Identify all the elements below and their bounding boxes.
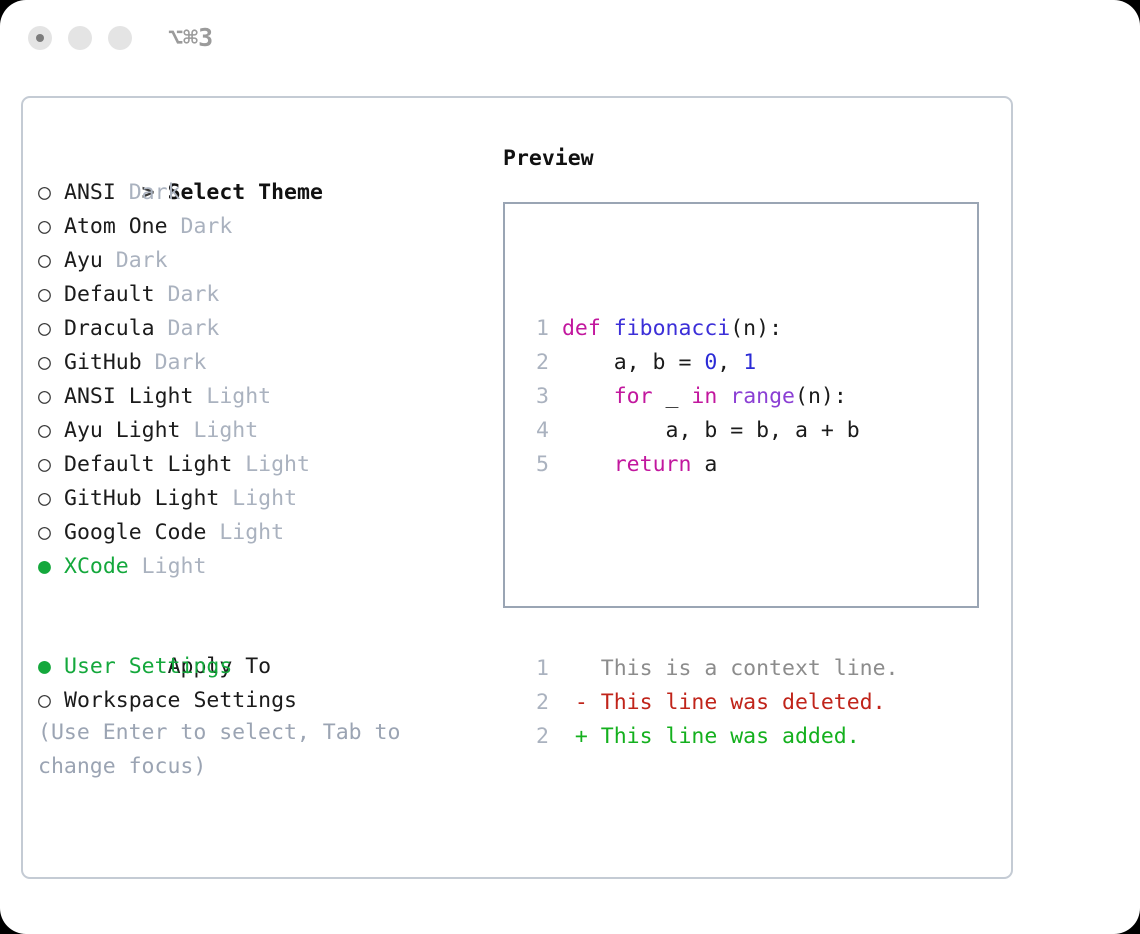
code-token: a, b = b, a + b	[562, 418, 860, 443]
code-lines: 1 def fibonacci(n):2 a, b = 0, 13 for _ …	[523, 312, 899, 482]
title-bar: ⌥⌘3	[0, 0, 1140, 78]
radio-unselected-icon: ○	[38, 210, 64, 244]
radio-unselected-icon: ○	[38, 176, 64, 210]
code-line: 4 a, b = b, a + b	[523, 414, 899, 448]
theme-list-item[interactable]: ○Google Code Light	[38, 516, 488, 550]
theme-list-item[interactable]: ○Dracula Dark	[38, 312, 488, 346]
radio-selected-icon: ●	[38, 550, 64, 584]
diff-line: 2 - This line was deleted.	[523, 686, 899, 720]
code-token: range	[730, 384, 795, 409]
radio-unselected-icon: ○	[38, 346, 64, 380]
code-token	[562, 384, 614, 409]
diff-line: 2 + This line was added.	[523, 720, 899, 754]
code-token: 0	[704, 350, 717, 375]
radio-unselected-icon: ○	[38, 516, 64, 550]
code-line: 5 return a	[523, 448, 899, 482]
keyboard-hint-text: (Use Enter to select, Tab to change focu…	[38, 716, 458, 784]
theme-list-item[interactable]: ○Ayu Dark	[38, 244, 488, 278]
theme-list: ○ANSI Dark○Atom One Dark○Ayu Dark○Defaul…	[38, 176, 488, 584]
code-token	[562, 452, 614, 477]
code-token: a, b =	[562, 350, 704, 375]
radio-unselected-icon: ○	[38, 414, 64, 448]
theme-name: GitHub	[64, 350, 142, 375]
diff-marker: -	[575, 690, 588, 715]
theme-variant-badge: Light	[219, 486, 297, 511]
preview-box: 1 def fibonacci(n):2 a, b = 0, 13 for _ …	[503, 202, 979, 608]
theme-name: Atom One	[64, 214, 168, 239]
theme-name: Default Light	[64, 452, 232, 477]
theme-list-item[interactable]: ●XCode Light	[38, 550, 488, 584]
diff-text: This is a context line.	[588, 656, 899, 681]
diff-text: This line was deleted.	[588, 690, 886, 715]
code-token: return	[614, 452, 692, 477]
theme-variant-badge: Light	[181, 418, 259, 443]
traffic-light-active-icon[interactable]	[28, 26, 52, 50]
code-token: _	[653, 384, 692, 409]
theme-selector-column: > Select Theme ○ANSI Dark○Atom One Dark○…	[38, 142, 488, 718]
code-line: 2 a, b = 0, 1	[523, 346, 899, 380]
theme-variant-badge: Dark	[103, 248, 168, 273]
theme-variant-badge: Dark	[155, 282, 220, 307]
theme-list-item[interactable]: ○Ayu Light Light	[38, 414, 488, 448]
code-token: for	[614, 384, 653, 409]
apply-to-option[interactable]: ○Workspace Settings	[38, 684, 488, 718]
line-number: 3	[523, 380, 549, 414]
theme-name: Dracula	[64, 316, 155, 341]
code-preview: 1 def fibonacci(n):2 a, b = 0, 13 for _ …	[523, 244, 899, 822]
theme-list-item[interactable]: ○ANSI Light Light	[38, 380, 488, 414]
theme-variant-badge: Dark	[155, 316, 220, 341]
code-token	[717, 384, 730, 409]
radio-unselected-icon: ○	[38, 244, 64, 278]
line-number: 1	[523, 652, 549, 686]
preview-title: Preview	[503, 142, 1003, 176]
diff-marker: +	[575, 724, 588, 749]
theme-name: ANSI Light	[64, 384, 193, 409]
theme-name: Default	[64, 282, 155, 307]
traffic-light-third-icon[interactable]	[108, 26, 132, 50]
apply-to-option-label: User Settings	[64, 654, 232, 679]
radio-unselected-icon: ○	[38, 380, 64, 414]
theme-variant-badge: Light	[129, 554, 207, 579]
theme-variant-badge: Dark	[116, 180, 181, 205]
main-panel: > Select Theme ○ANSI Dark○Atom One Dark○…	[21, 96, 1013, 879]
theme-name: ANSI	[64, 180, 116, 205]
radio-selected-icon: ●	[38, 650, 64, 684]
theme-list-item[interactable]: ○GitHub Dark	[38, 346, 488, 380]
line-number: 5	[523, 448, 549, 482]
theme-list-item[interactable]: ○Default Light Light	[38, 448, 488, 482]
diff-text: This line was added.	[588, 724, 860, 749]
line-number: 4	[523, 414, 549, 448]
select-theme-header: > Select Theme	[38, 142, 488, 176]
theme-list-item[interactable]: ○Atom One Dark	[38, 210, 488, 244]
theme-name: XCode	[64, 554, 129, 579]
code-token: 1	[743, 350, 756, 375]
code-token: in	[691, 384, 717, 409]
code-line: 3 for _ in range(n):	[523, 380, 899, 414]
theme-list-item[interactable]: ○Default Dark	[38, 278, 488, 312]
code-token: def	[562, 316, 614, 341]
theme-name: GitHub Light	[64, 486, 219, 511]
code-token: (n):	[730, 316, 782, 341]
line-number: 2	[523, 346, 549, 380]
code-token: (n):	[795, 384, 847, 409]
line-number: 2	[523, 720, 549, 754]
traffic-light-second-icon[interactable]	[68, 26, 92, 50]
select-theme-title: Select Theme	[168, 180, 323, 205]
theme-name: Ayu Light	[64, 418, 181, 443]
app-window: ⌥⌘3 > Select Theme ○ANSI Dark○Atom One D…	[0, 0, 1140, 934]
theme-variant-badge: Dark	[168, 214, 233, 239]
theme-name: Ayu	[64, 248, 103, 273]
keyboard-shortcut-label: ⌥⌘3	[168, 22, 213, 54]
diff-lines: 1 This is a context line.2 - This line w…	[523, 652, 899, 754]
radio-unselected-icon: ○	[38, 278, 64, 312]
line-number: 2	[523, 686, 549, 720]
line-number: 1	[523, 312, 549, 346]
radio-unselected-icon: ○	[38, 448, 64, 482]
theme-list-item[interactable]: ○GitHub Light Light	[38, 482, 488, 516]
radio-unselected-icon: ○	[38, 482, 64, 516]
preview-spacer	[523, 550, 899, 584]
active-dot-inner-icon	[36, 34, 44, 42]
theme-variant-badge: Light	[206, 520, 284, 545]
apply-to-header: Apply To	[38, 616, 488, 650]
theme-variant-badge: Dark	[142, 350, 207, 375]
diff-line: 1 This is a context line.	[523, 652, 899, 686]
diff-marker	[575, 656, 588, 681]
code-token: fibonacci	[614, 316, 731, 341]
theme-name: Google Code	[64, 520, 206, 545]
theme-variant-badge: Light	[232, 452, 310, 477]
apply-to-option-label: Workspace Settings	[64, 688, 297, 713]
code-token: ,	[717, 350, 743, 375]
radio-unselected-icon: ○	[38, 684, 64, 718]
preview-column: Preview 1 def fibonacci(n):2 a, b = 0, 1…	[503, 142, 1003, 176]
theme-variant-badge: Light	[193, 384, 271, 409]
radio-unselected-icon: ○	[38, 312, 64, 346]
code-token: a	[691, 452, 717, 477]
code-line: 1 def fibonacci(n):	[523, 312, 899, 346]
